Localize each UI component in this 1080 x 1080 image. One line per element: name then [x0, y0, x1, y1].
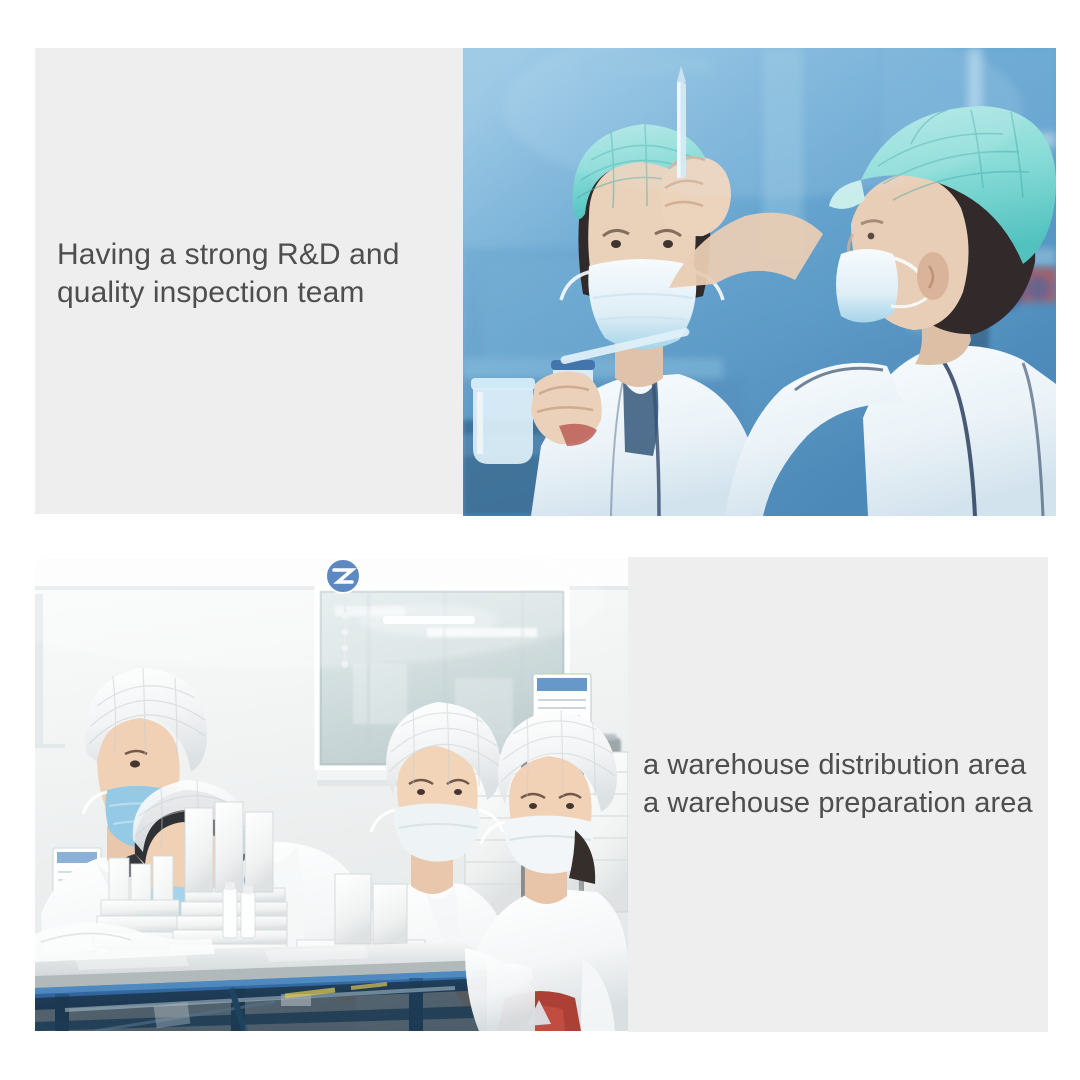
top-caption-text: Having a strong R&D and quality inspecti…: [57, 236, 452, 313]
collage-page: Having a strong R&D and quality inspecti…: [0, 0, 1080, 1080]
top-caption-line-1: Having a strong R&D and: [57, 236, 452, 274]
bottom-section: a warehouse distribution area a warehous…: [35, 557, 1048, 1032]
top-caption-line-2: quality inspection team: [57, 274, 452, 312]
bottom-caption-line-1: a warehouse distribution area: [643, 747, 1063, 785]
bottom-caption-text: a warehouse distribution area a warehous…: [643, 747, 1063, 822]
top-section: Having a strong R&D and quality inspecti…: [35, 48, 1056, 516]
warehouse-packing-area-photo: [35, 558, 628, 1031]
lab-quality-inspection-photo: [463, 48, 1056, 516]
bottom-caption-line-2: a warehouse preparation area: [643, 785, 1063, 823]
